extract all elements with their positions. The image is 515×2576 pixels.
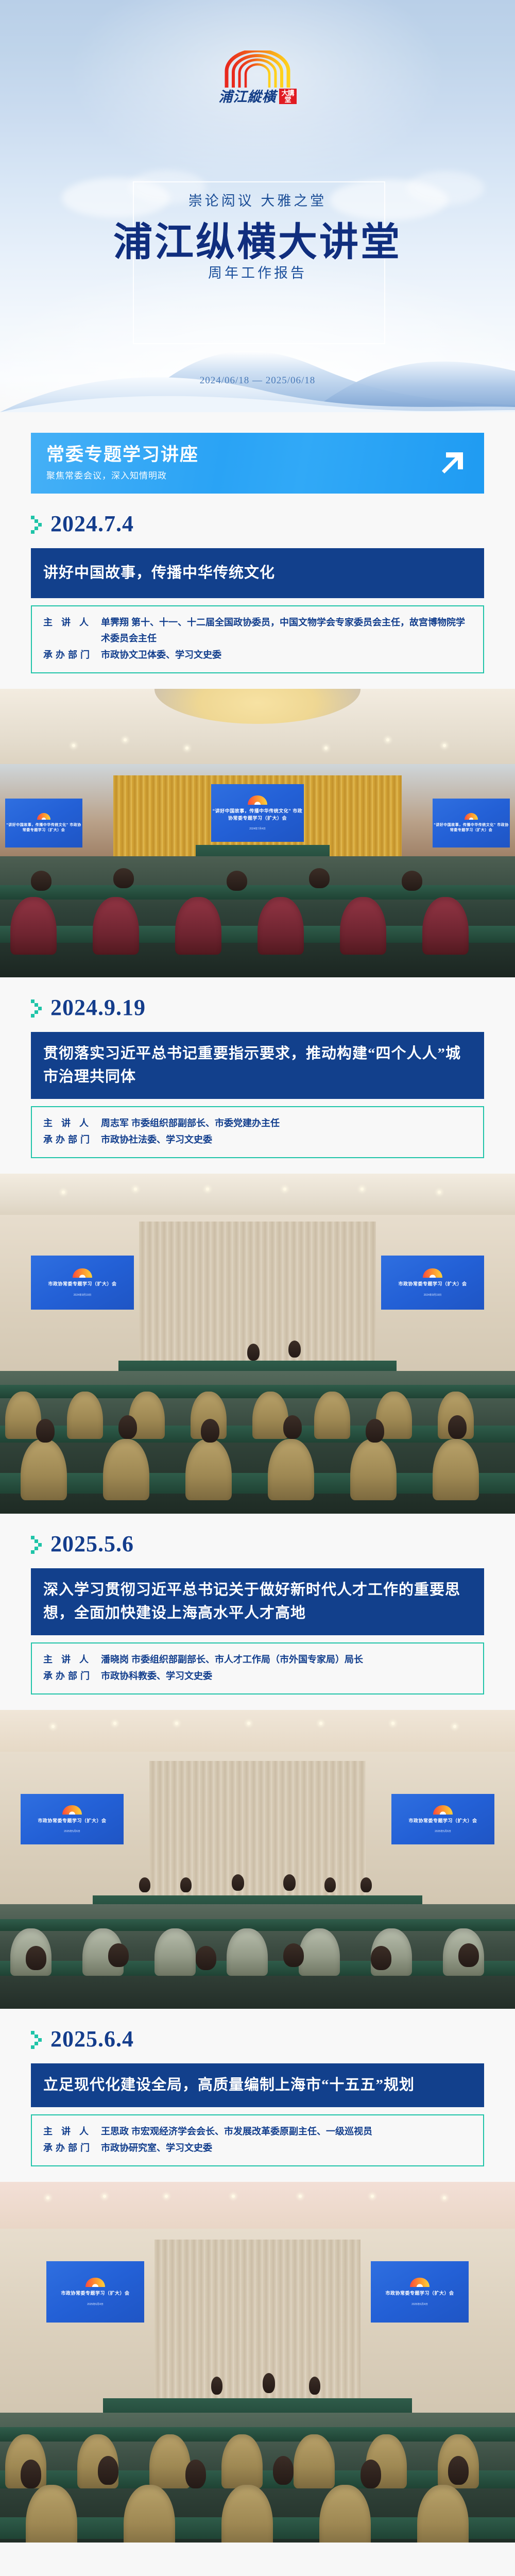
arch-rainbow-logo-icon xyxy=(225,50,290,88)
hero-section: 浦江縱橫 大講堂 崇论闳议 大雅之堂 浦江纵横大讲堂 周年工作报告 xyxy=(0,0,515,412)
organizer-row: 承办部门 市政协文卫体委、学习文史委 xyxy=(43,647,472,664)
screen-caption: 市政协常委专题学习（扩大）会 xyxy=(38,1818,106,1825)
organizer-value: 市政协文卫体委、学习文史委 xyxy=(101,647,472,664)
stage-screen: “讲好中国故事，传播中华传统文化” 市政协常委专题学习（扩大）会 2024年7月… xyxy=(211,784,304,842)
speaker-label: 主 讲 人 xyxy=(43,1115,101,1132)
event-block: 2025.6.4 立足现代化建设全局，高质量编制上海市“十五五”规划 主 讲 人… xyxy=(0,2009,515,2543)
side-screen-right: 市政协常委专题学习（扩大）会 2025年5月6日 xyxy=(391,1794,494,1845)
screen-caption: “讲好中国故事，传播中华传统文化” 市政协常委专题学习（扩大）会 xyxy=(5,823,82,834)
speaker-label: 主 讲 人 xyxy=(43,2124,101,2140)
event-date: 2025.6.4 xyxy=(50,2028,134,2050)
side-screen-right: “讲好中国故事，传播中华传统文化” 市政协常委专题学习（扩大）会 xyxy=(433,799,510,848)
side-screen-left: 市政协常委专题学习（扩大）会 2025年5月6日 xyxy=(21,1794,124,1845)
screen-date: 2025年5月6日 xyxy=(435,1829,451,1833)
speaker-value: 潘晓岗 市委组织部副部长、市人才工作局（市外国专家局）局长 xyxy=(101,1652,472,1668)
speaker-label: 主 讲 人 xyxy=(43,1652,101,1668)
brand-wordmark: 浦江縱橫 大講堂 xyxy=(191,89,324,104)
side-screen-right: 市政协常委专题学习（扩大）会 2025年6月4日 xyxy=(371,2261,469,2323)
speaker-row: 主 讲 人 单霁翔 第十、十一、十二届全国政协委员，中国文物学会专家委员会主任，… xyxy=(43,615,472,647)
organizer-row: 承办部门 市政协科教委、学习文史委 xyxy=(43,1668,472,1685)
section-banner-subtitle: 聚焦常委会议，深入知情明政 xyxy=(46,468,435,481)
event-photo: 市政协常委专题学习（扩大）会 2025年5月6日 市政协常委专题学习（扩大）会 … xyxy=(0,1710,515,2009)
event-block: 2024.7.4 讲好中国故事，传播中华传统文化 主 讲 人 单霁翔 第十、十一… xyxy=(0,494,515,977)
event-title: 贯彻落实习近平总书记重要指示要求，推动构建“四个人人”城市治理共同体 xyxy=(31,1032,484,1099)
event-meta: 主 讲 人 潘晓岗 市委组织部副部长、市人才工作局（市外国专家局）局长 承办部门… xyxy=(31,1642,484,1694)
event-date-row: 2025.6.4 xyxy=(31,2024,484,2054)
organizer-label: 承办部门 xyxy=(43,1132,101,1148)
event-title: 讲好中国故事，传播中华传统文化 xyxy=(31,548,484,598)
side-screen-left: 市政协常委专题学习（扩大）会 2025年6月4日 xyxy=(46,2261,144,2323)
event-meta: 主 讲 人 单霁翔 第十、十一、十二届全国政协委员，中国文物学会专家委员会主任，… xyxy=(31,605,484,674)
side-screen-left: 市政协常委专题学习（扩大）会 2024年9月19日 xyxy=(31,1256,134,1310)
chevron-right-pixel-icon xyxy=(31,997,44,1018)
event-block: 2025.5.6 深入学习贯彻习近平总书记关于做好新时代人才工作的重要思想，全面… xyxy=(0,1514,515,2009)
organizer-row: 承办部门 市政协研究室、学习文史委 xyxy=(43,2140,472,2157)
event-photo: 市政协常委专题学习（扩大）会 2024年9月19日 市政协常委专题学习（扩大）会… xyxy=(0,1174,515,1514)
speaker-value: 王思政 市宏观经济学会会长、市发展改革委原副主任、一级巡视员 xyxy=(101,2124,472,2140)
organizer-label: 承办部门 xyxy=(43,1668,101,1685)
event-meta: 主 讲 人 王思政 市宏观经济学会会长、市发展改革委原副主任、一级巡视员 承办部… xyxy=(31,2114,484,2166)
organizer-label: 承办部门 xyxy=(43,647,101,664)
event-photo: 市政协常委专题学习（扩大）会 2025年6月4日 市政协常委专题学习（扩大）会 … xyxy=(0,2182,515,2543)
screen-caption: 市政协常委专题学习（扩大）会 xyxy=(61,2290,129,2297)
date-range: 2024/06/18 — 2025/06/18 xyxy=(0,375,515,386)
screen-date: 2025年6月4日 xyxy=(411,2302,428,2306)
speaker-value: 单霁翔 第十、十一、十二届全国政协委员，中国文物学会专家委员会主任，故宫博物院学… xyxy=(101,615,472,647)
screen-caption: “讲好中国故事，传播中华传统文化” 市政协常委专题学习（扩大）会 xyxy=(433,823,510,834)
event-date-row: 2025.5.6 xyxy=(31,1529,484,1559)
arrow-up-right-icon[interactable] xyxy=(435,447,467,479)
section-banner-title: 常委专题学习讲座 xyxy=(46,445,435,465)
organizer-value: 市政协社法委、学习文史委 xyxy=(101,1132,472,1148)
screen-caption: 市政协常委专题学习（扩大）会 xyxy=(398,1281,467,1288)
mountain-graphic xyxy=(0,304,515,412)
hero-subtitle: 崇论闳议 大雅之堂 xyxy=(0,190,515,210)
speaker-label: 主 讲 人 xyxy=(43,615,101,631)
brand-name-text: 浦江縱橫 xyxy=(219,90,277,104)
screen-caption: 市政协常委专题学习（扩大）会 xyxy=(48,1281,116,1288)
organizer-label: 承办部门 xyxy=(43,2140,101,2157)
organizer-value: 市政协科教委、学习文史委 xyxy=(101,1668,472,1685)
speaker-row: 主 讲 人 周志军 市委组织部副部长、市委党建办主任 xyxy=(43,1115,472,1132)
screen-date: 2024年9月19日 xyxy=(424,1293,441,1297)
speaker-value: 周志军 市委组织部副部长、市委党建办主任 xyxy=(101,1115,472,1132)
screen-date: 2024年7月4日 xyxy=(249,827,266,831)
hero-report-label: 周年工作报告 xyxy=(0,262,515,282)
brand-seal: 大講堂 xyxy=(279,89,297,104)
side-screen-right: 市政协常委专题学习（扩大）会 2024年9月19日 xyxy=(381,1256,484,1310)
organizer-row: 承办部门 市政协社法委、学习文史委 xyxy=(43,1132,472,1148)
hero-title: 浦江纵横大讲堂 xyxy=(0,210,515,267)
event-date: 2025.5.6 xyxy=(50,1533,134,1555)
screen-caption: “讲好中国故事，传播中华传统文化” 市政协常委专题学习（扩大）会 xyxy=(211,808,304,822)
screen-caption: 市政协常委专题学习（扩大）会 xyxy=(408,1818,477,1825)
screen-date: 2025年6月4日 xyxy=(87,2302,104,2306)
section-banner[interactable]: 常委专题学习讲座 聚焦常委会议，深入知情明政 xyxy=(31,433,484,494)
chevron-right-pixel-icon xyxy=(31,514,44,534)
event-photo: “讲好中国故事，传播中华传统文化” 市政协常委专题学习（扩大）会 2024年7月… xyxy=(0,689,515,977)
organizer-value: 市政协研究室、学习文史委 xyxy=(101,2140,472,2157)
screen-date: 2024年9月19日 xyxy=(74,1293,91,1297)
poster-page: 浦江縱橫 大講堂 崇论闳议 大雅之堂 浦江纵横大讲堂 周年工作报告 xyxy=(0,0,515,2543)
event-block: 2024.9.19 贯彻落实习近平总书记重要指示要求，推动构建“四个人人”城市治… xyxy=(0,977,515,1514)
screen-caption: 市政协常委专题学习（扩大）会 xyxy=(385,2290,454,2297)
event-date-row: 2024.7.4 xyxy=(31,509,484,539)
side-screen-left: “讲好中国故事，传播中华传统文化” 市政协常委专题学习（扩大）会 xyxy=(5,799,82,848)
screen-date: 2025年5月6日 xyxy=(64,1829,80,1833)
chevron-right-pixel-icon xyxy=(31,1534,44,1554)
event-date: 2024.7.4 xyxy=(50,513,134,535)
speaker-row: 主 讲 人 王思政 市宏观经济学会会长、市发展改革委原副主任、一级巡视员 xyxy=(43,2124,472,2140)
brand-logo: 浦江縱橫 大講堂 xyxy=(191,50,324,104)
event-date: 2024.9.19 xyxy=(50,996,146,1019)
event-title: 立足现代化建设全局，高质量编制上海市“十五五”规划 xyxy=(31,2063,484,2107)
chevron-right-pixel-icon xyxy=(31,2029,44,2049)
event-meta: 主 讲 人 周志军 市委组织部副部长、市委党建办主任 承办部门 市政协社法委、学… xyxy=(31,1106,484,1158)
section-banner-texts: 常委专题学习讲座 聚焦常委会议，深入知情明政 xyxy=(46,445,435,482)
speaker-row: 主 讲 人 潘晓岗 市委组织部副部长、市人才工作局（市外国专家局）局长 xyxy=(43,1652,472,1668)
event-date-row: 2024.9.19 xyxy=(31,993,484,1023)
event-title: 深入学习贯彻习近平总书记关于做好新时代人才工作的重要思想，全面加快建设上海高水平… xyxy=(31,1568,484,1635)
